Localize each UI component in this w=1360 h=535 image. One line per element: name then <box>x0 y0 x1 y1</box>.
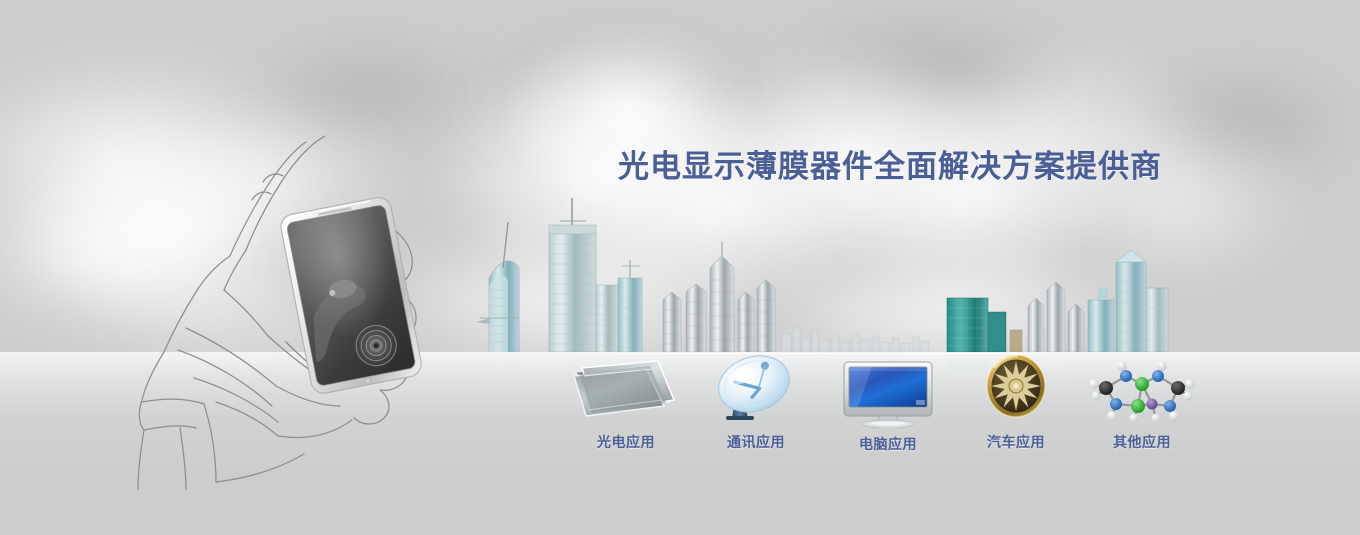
app-label: 通讯应用 <box>696 432 816 452</box>
car-alloy-wheel-icon <box>956 352 1076 424</box>
glass-film-panels-icon <box>566 352 686 424</box>
app-item-communication[interactable]: 通讯应用 <box>696 350 816 452</box>
app-label: 汽车应用 <box>956 432 1076 452</box>
app-item-other[interactable]: 其他应用 <box>1082 354 1202 452</box>
satellite-dish-icon <box>696 350 816 422</box>
app-label: 电脑应用 <box>828 434 948 454</box>
molecule-model-icon <box>1082 354 1202 426</box>
app-label: 其他应用 <box>1082 432 1202 452</box>
hand-holding-phone-illustration <box>120 110 480 490</box>
application-icon-row: 光电应用 <box>560 352 1200 462</box>
page-title: 光电显示薄膜器件全面解决方案提供商 <box>618 141 1162 186</box>
app-item-automotive[interactable]: 汽车应用 <box>956 352 1076 452</box>
app-item-computer[interactable]: 电脑应用 <box>828 356 948 454</box>
hero-banner: 光电显示薄膜器件全面解决方案提供商 <box>0 0 1360 535</box>
app-label: 光电应用 <box>566 432 686 452</box>
computer-monitor-icon <box>828 356 948 428</box>
app-item-optoelectronic[interactable]: 光电应用 <box>566 352 686 452</box>
